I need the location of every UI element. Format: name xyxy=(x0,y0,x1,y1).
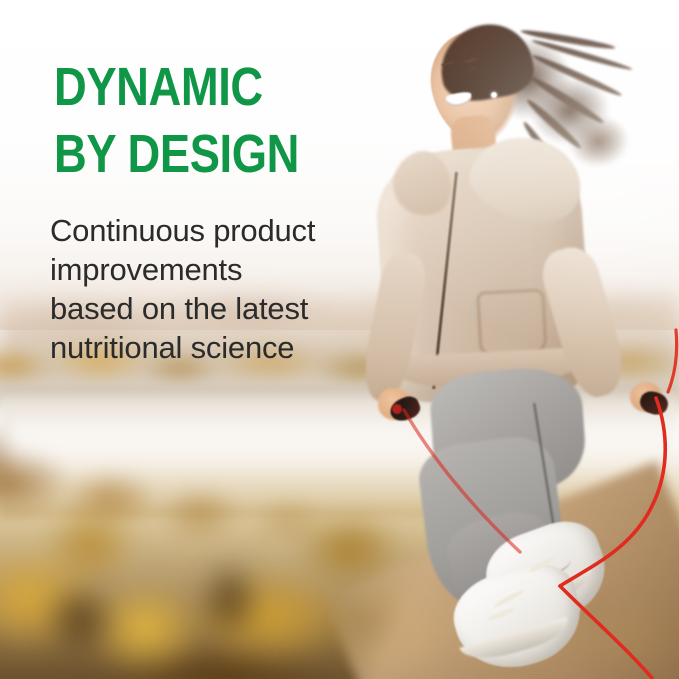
page-headline: DYNAMIC BY DESIGN xyxy=(54,54,299,188)
page-subheadline: Continuous product improvements based on… xyxy=(50,211,315,367)
promo-banner: DYNAMIC BY DESIGN Continuous product imp… xyxy=(0,0,679,679)
